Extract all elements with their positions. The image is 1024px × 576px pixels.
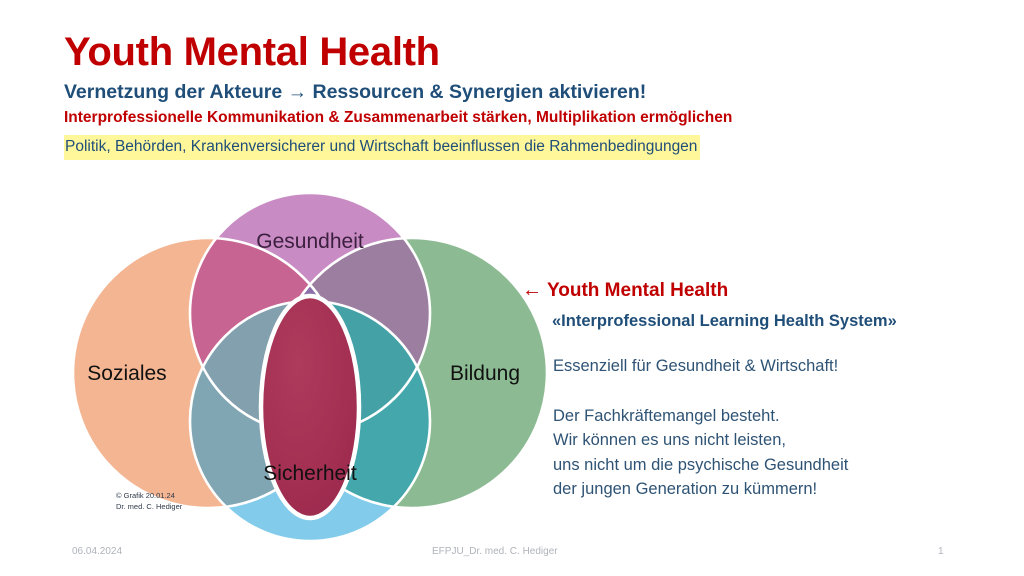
subtitle-secondary: Interprofessionelle Kommunikation & Zusa… [64,108,964,127]
venn-label-gesundheit: Gesundheit [256,230,364,253]
subtitle-primary: Vernetzung der Akteure → Ressourcen & Sy… [64,80,964,104]
venn-label-sicherheit: Sicherheit [263,462,357,485]
callout-line: Essenziell für Gesundheit & Wirtschaft! [553,354,992,378]
graphic-credit: © Grafik 20.01.24 Dr. med. C. Hediger [116,491,182,513]
highlighted-note: Politik, Behörden, Krankenversicherer un… [64,135,700,160]
venn-label-soziales: Soziales [87,362,166,385]
slide-footer: 06.04.2024 EFPJU_Dr. med. C. Hediger 1 [0,540,1024,576]
callout-subheading: «Interprofessional Learning Health Syste… [552,312,992,332]
header-block: Youth Mental Health Vernetzung der Akteu… [64,30,964,160]
venn-diagram: Gesundheit Soziales Bildung Sicherheit ©… [55,180,555,550]
graphic-credit-line-2: Dr. med. C. Hediger [116,502,182,513]
callout-paragraph-1: Essenziell für Gesundheit & Wirtschaft! [553,354,992,378]
callout-heading: ←Youth Mental Health [522,278,992,303]
callout-line: Der Fachkräftemangel besteht. [553,404,992,428]
left-arrow-icon: ← [522,279,542,301]
graphic-credit-line-1: © Grafik 20.01.24 [116,491,182,502]
slide-canvas: Youth Mental Health Vernetzung der Akteu… [0,0,1024,576]
page-title: Youth Mental Health [64,30,964,74]
callout-heading-text: Youth Mental Health [547,280,728,301]
callout-line: uns nicht um die psychische Gesundheit [553,453,992,477]
callout-paragraph-2: Der Fachkräftemangel besteht. Wir können… [553,404,992,502]
callout-line: Wir können es uns nicht leisten, [553,428,992,452]
callout-block: ←Youth Mental Health «Interprofessional … [522,278,992,502]
footer-center-text: EFPJU_Dr. med. C. Hediger [432,546,558,557]
footer-page-number: 1 [938,546,944,557]
venn-label-bildung: Bildung [450,362,520,385]
footer-date: 06.04.2024 [72,546,122,557]
callout-line: der jungen Generation zu kümmern! [553,477,992,501]
